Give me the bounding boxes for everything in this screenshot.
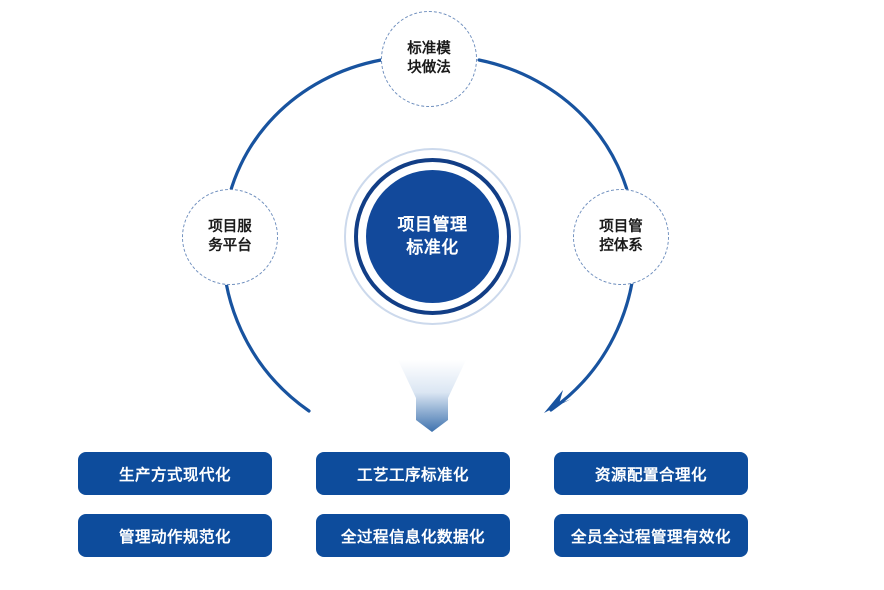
- outcome-box-label: 全员全过程管理有效化: [571, 525, 731, 547]
- hub-core[interactable]: 项目管理 标准化: [366, 170, 499, 303]
- outcome-box[interactable]: 工艺工序标准化: [316, 452, 510, 495]
- node-standard-module[interactable]: 标准模 块做法: [381, 11, 477, 107]
- outcome-box-grid: 生产方式现代化 工艺工序标准化 资源配置合理化 管理动作规范化 全过程信息化数据…: [78, 452, 768, 557]
- outcome-box-label: 管理动作规范化: [119, 525, 231, 547]
- node-top-label: 标准模 块做法: [407, 40, 451, 78]
- outcome-box-label: 生产方式现代化: [119, 463, 231, 485]
- outcome-box-row: 生产方式现代化 工艺工序标准化 资源配置合理化: [78, 452, 768, 495]
- outcome-box[interactable]: 生产方式现代化: [78, 452, 272, 495]
- arc-arrowhead-icon: [544, 390, 571, 413]
- outcome-box-row: 管理动作规范化 全过程信息化数据化 全员全过程管理有效化: [78, 514, 768, 557]
- node-left-label: 项目服 务平台: [208, 218, 252, 256]
- outcome-box-label: 资源配置合理化: [595, 463, 707, 485]
- outcome-box-label: 工艺工序标准化: [357, 463, 469, 485]
- down-arrow-icon: [398, 360, 466, 432]
- outcome-box[interactable]: 全员全过程管理有效化: [554, 514, 748, 557]
- outcome-box[interactable]: 全过程信息化数据化: [316, 514, 510, 557]
- node-project-service-platform[interactable]: 项目服 务平台: [182, 189, 278, 285]
- outcome-box-label: 全过程信息化数据化: [341, 525, 485, 547]
- outcome-box[interactable]: 管理动作规范化: [78, 514, 272, 557]
- node-project-control-system[interactable]: 项目管 控体系: [573, 189, 669, 285]
- outcome-box[interactable]: 资源配置合理化: [554, 452, 748, 495]
- hub-core-label: 项目管理 标准化: [398, 214, 468, 260]
- diagram-canvas: 项目管理 标准化 标准模 块做法 项目服 务平台 项目管 控体系 生产方式现代化…: [0, 0, 884, 590]
- node-right-label: 项目管 控体系: [599, 218, 643, 256]
